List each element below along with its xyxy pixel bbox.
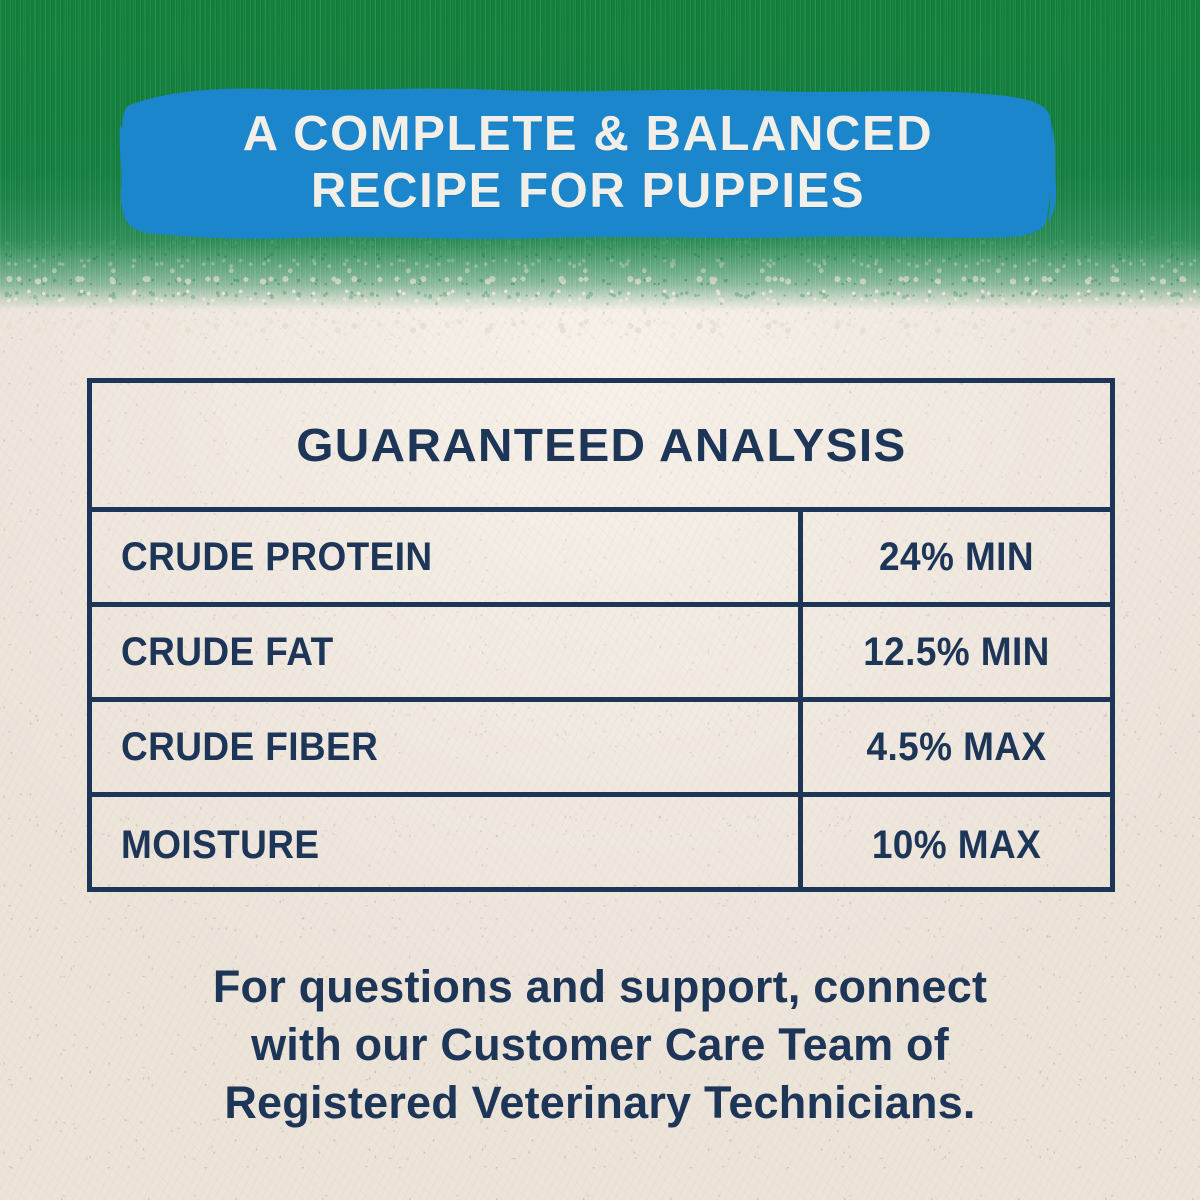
nutrient-label-cell: CRUDE FIBER <box>92 702 803 792</box>
customer-care-line-1: For questions and support, connect <box>60 958 1140 1016</box>
nutrient-label-cell: CRUDE PROTEIN <box>92 512 803 602</box>
nutrient-amount-cell: 24% MIN <box>803 512 1110 602</box>
nutrient-amount: 4.5% MAX <box>866 724 1046 769</box>
headline-text: A COMPLETE & BALANCED RECIPE FOR PUPPIES <box>118 106 1058 220</box>
table-row: CRUDE FAT 12.5% MIN <box>92 607 1110 702</box>
nutrient-amount-cell: 10% MAX <box>803 797 1110 892</box>
guaranteed-analysis-table: GUARANTEED ANALYSIS CRUDE PROTEIN 24% MI… <box>87 378 1115 892</box>
product-info-panel: A COMPLETE & BALANCED RECIPE FOR PUPPIES… <box>0 0 1200 1200</box>
nutrient-label: CRUDE PROTEIN <box>121 534 433 579</box>
nutrient-label-cell: CRUDE FAT <box>92 607 803 697</box>
nutrient-label: MOISTURE <box>121 822 319 867</box>
customer-care-line-2: with our Customer Care Team of <box>60 1016 1140 1074</box>
table-row: CRUDE PROTEIN 24% MIN <box>92 512 1110 607</box>
table-title: GUARANTEED ANALYSIS <box>296 418 906 472</box>
table-header: GUARANTEED ANALYSIS <box>92 383 1110 512</box>
nutrient-label-cell: MOISTURE <box>92 797 803 892</box>
nutrient-label: CRUDE FAT <box>121 629 334 674</box>
headline-line-1: A COMPLETE & BALANCED <box>118 106 1058 163</box>
table-row: CRUDE FIBER 4.5% MAX <box>92 702 1110 797</box>
nutrient-amount-cell: 12.5% MIN <box>803 607 1110 697</box>
customer-care-line-3: Registered Veterinary Technicians. <box>60 1074 1140 1132</box>
nutrient-label: CRUDE FIBER <box>121 724 378 769</box>
customer-care-note: For questions and support, connect with … <box>60 958 1140 1132</box>
nutrient-amount: 12.5% MIN <box>863 629 1050 674</box>
nutrient-amount: 24% MIN <box>879 534 1034 579</box>
headline-line-2: RECIPE FOR PUPPIES <box>118 163 1058 220</box>
nutrient-amount: 10% MAX <box>872 822 1041 867</box>
nutrient-amount-cell: 4.5% MAX <box>803 702 1110 792</box>
table-row: MOISTURE 10% MAX <box>92 797 1110 892</box>
headline-brush-banner: A COMPLETE & BALANCED RECIPE FOR PUPPIES <box>118 84 1058 242</box>
